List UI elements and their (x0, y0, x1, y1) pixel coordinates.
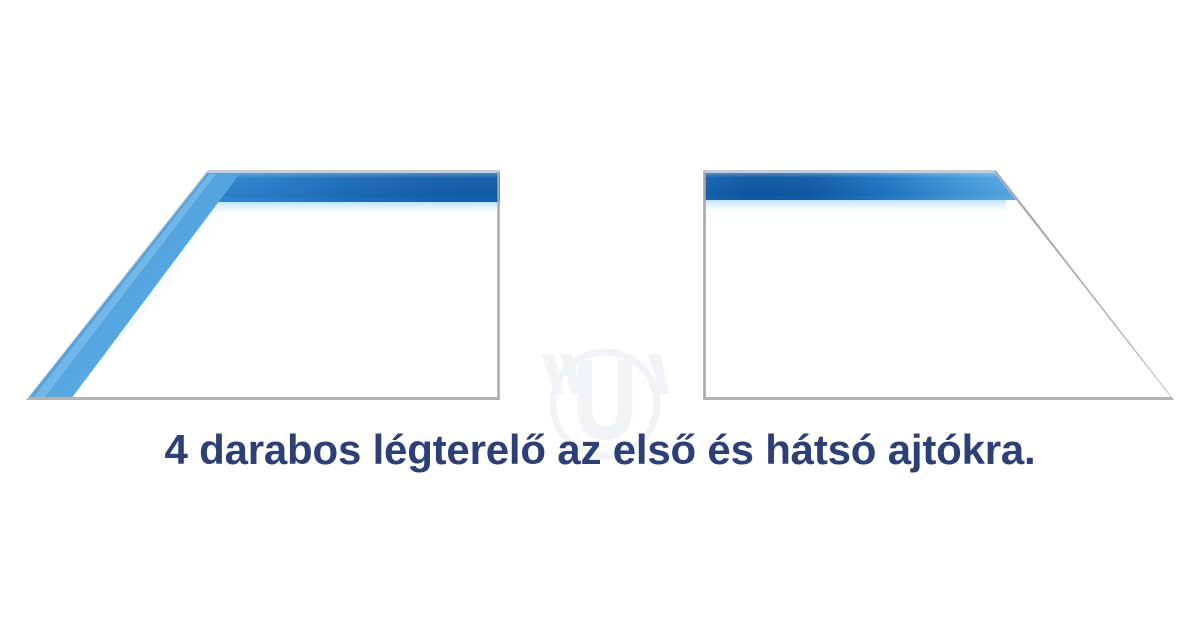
image-canvas: 4 darabos légterelő az első és hátsó ajt… (0, 0, 1200, 630)
caption-text: 4 darabos légterelő az első és hátsó ajt… (0, 424, 1200, 476)
deflector-left (26, 170, 506, 400)
deflector-right (700, 170, 1174, 400)
deflector-left-band-bleed (200, 200, 506, 216)
deflector-left-top-band-shading (209, 172, 501, 202)
product-illustration (0, 0, 1200, 430)
deflector-right-top-band-shading (704, 172, 1016, 200)
deflector-right-band-bleed (700, 198, 1006, 214)
